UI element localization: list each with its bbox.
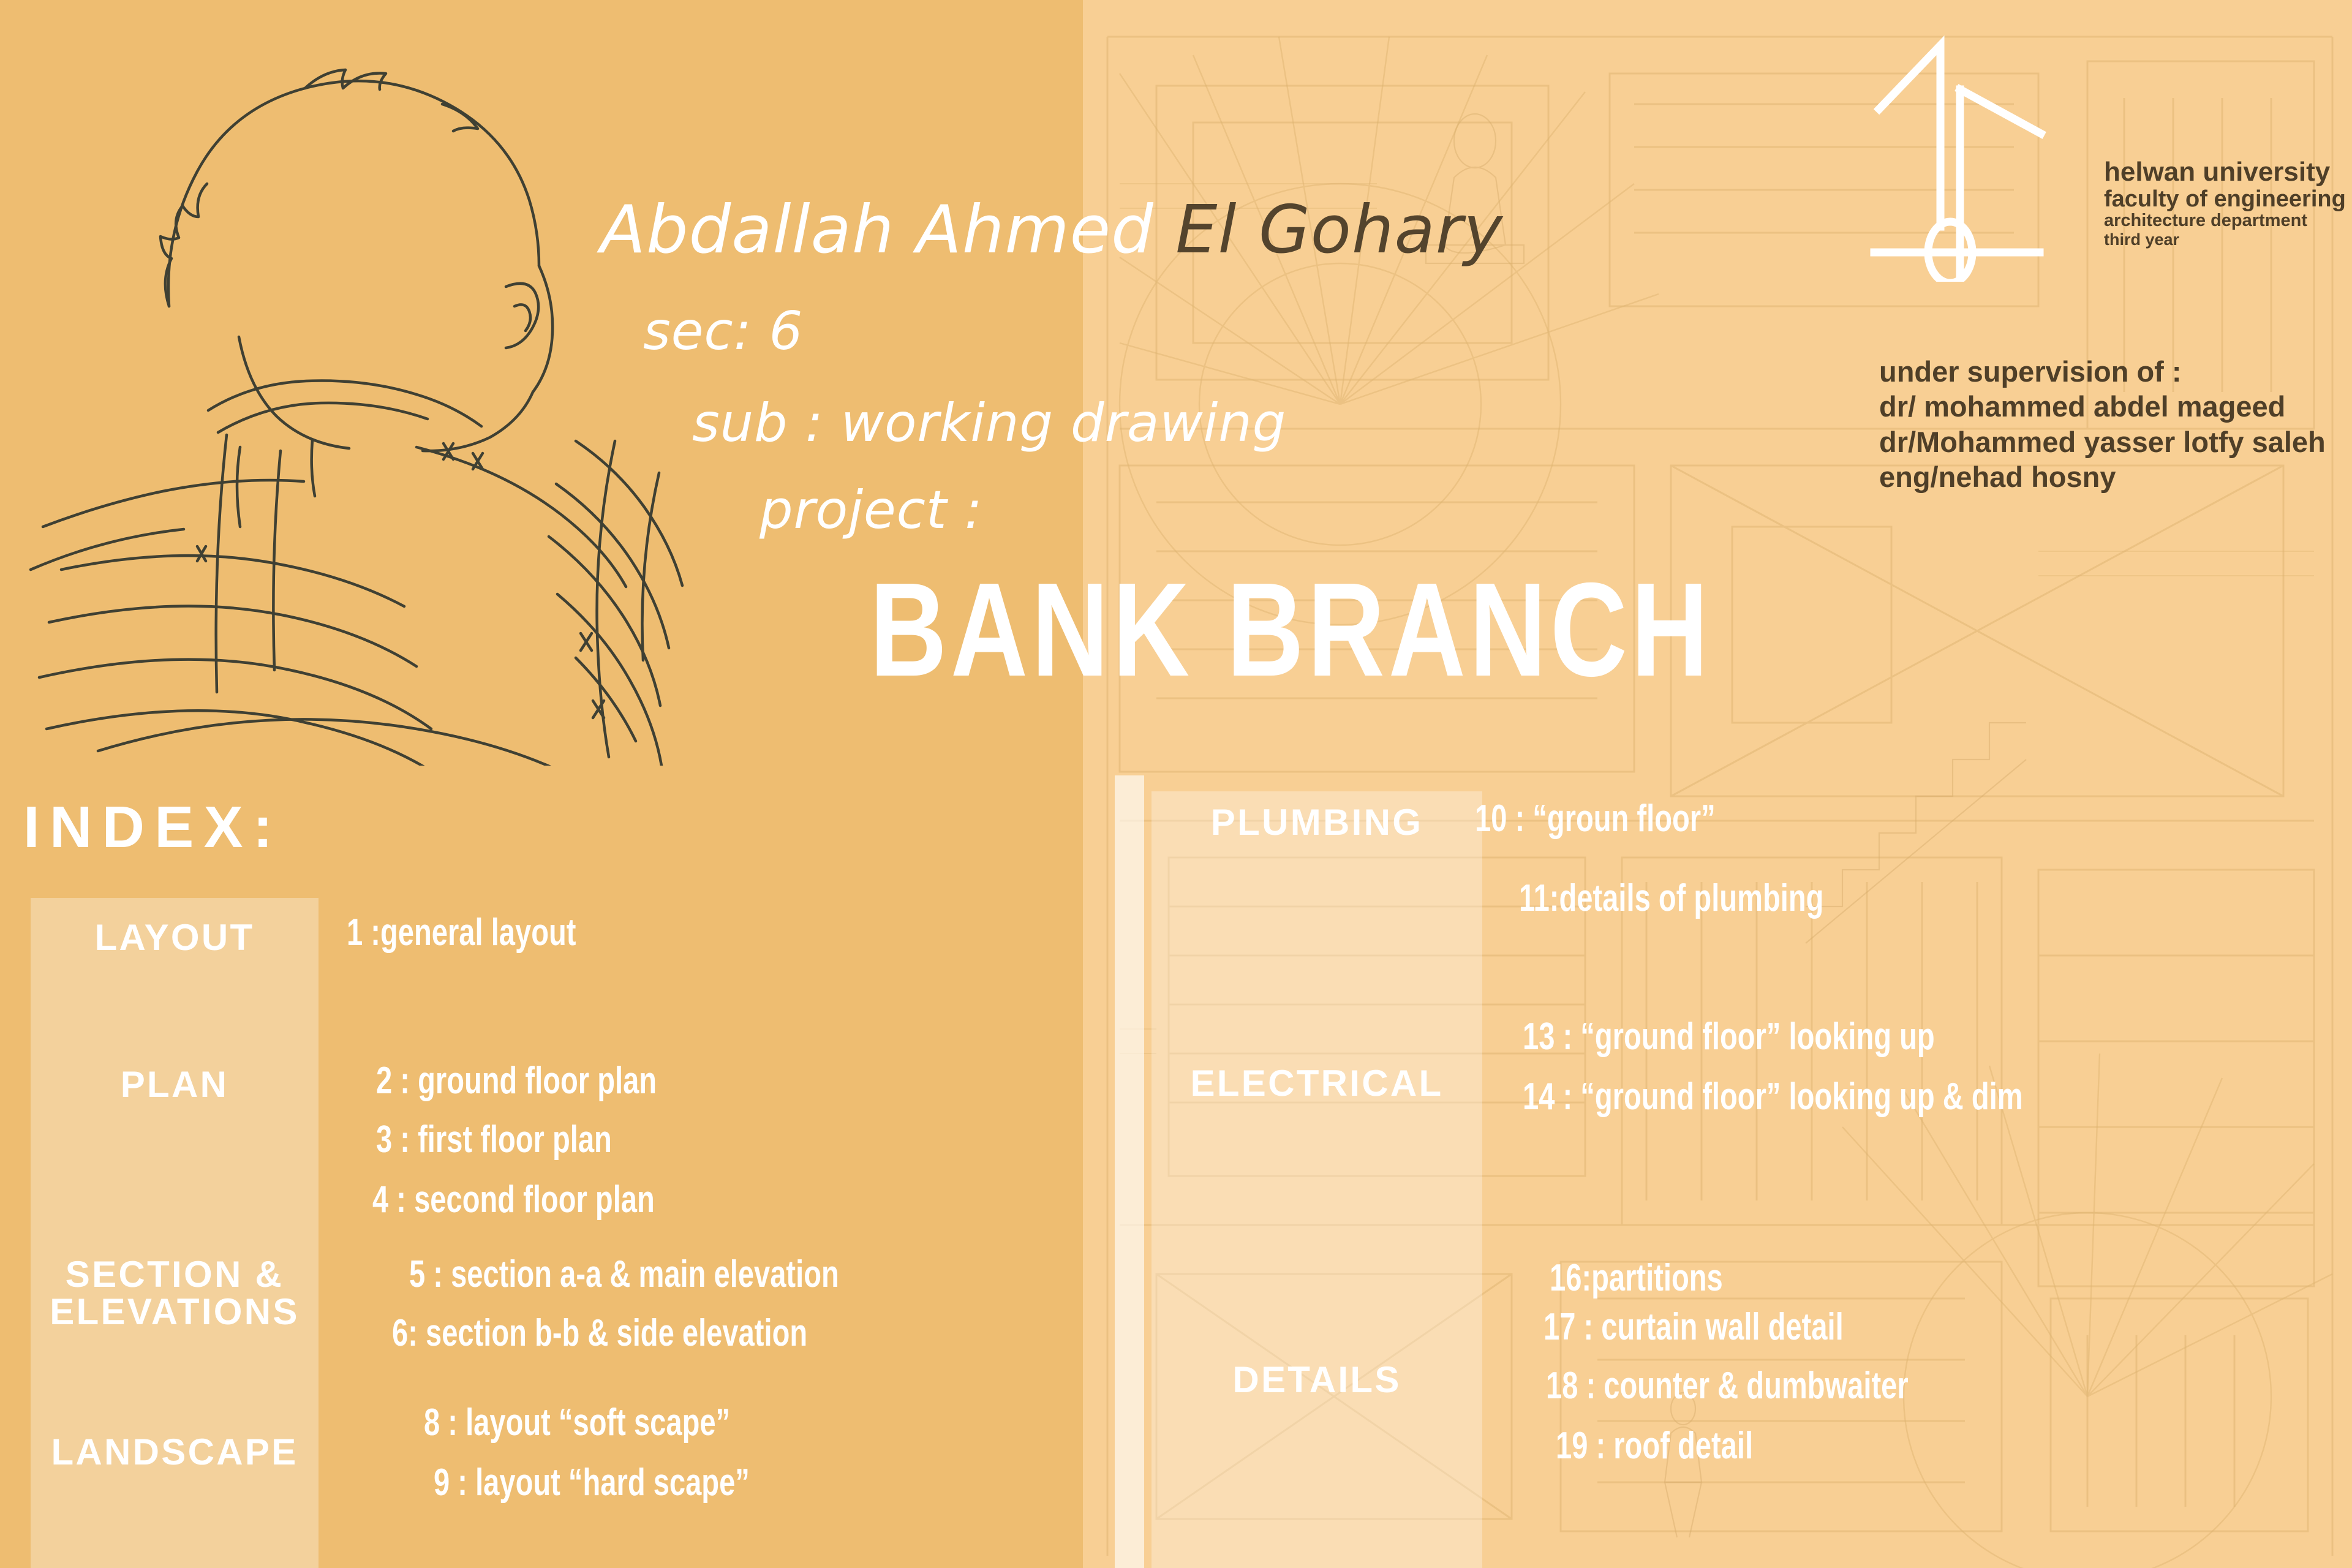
index-entry-3: 3 : first floor plan: [376, 1121, 612, 1159]
index-category-plan: PLAN: [31, 1066, 318, 1103]
faculty-name: faculty of engineering: [2104, 187, 2349, 211]
index-entry-11: 11:details of plumbing: [1519, 880, 1823, 918]
university-name: helwan university: [2104, 158, 2349, 187]
subject-line: sub : working drawing: [692, 397, 1286, 450]
index-heading: INDEX:: [23, 798, 282, 857]
index-category-section-elevations: SECTION & ELEVATIONS: [31, 1256, 318, 1330]
supervisor-2: dr/Mohammed yasser lotfy saleh: [1879, 424, 2345, 459]
student-name: Abdallah Ahmed El Gohary: [600, 197, 1503, 263]
index-entry-14: 14 : “ground floor” looking up & dim: [1523, 1078, 2023, 1116]
index-entry-16: 16:partitions: [1550, 1259, 1723, 1297]
index-category-landscape: LANDSCAPE: [24, 1433, 325, 1471]
supervision-block: under supervision of : dr/ mohammed abde…: [1879, 354, 2345, 494]
index-entry-10: 10 : “groun floor”: [1475, 800, 1716, 838]
index-entry-8: 8 : layout “soft scape”: [424, 1404, 730, 1442]
index-category-electrical: ELECTRICAL: [1151, 1065, 1482, 1102]
index-entry-6: 6: section b-b & side elevation: [392, 1314, 807, 1352]
presentation-board: Abdallah Ahmed El Gohary sec: 6 sub : wo…: [0, 0, 2352, 1568]
supervision-heading: under supervision of :: [1879, 354, 2345, 389]
department-name: architecture department: [2104, 211, 2349, 231]
index-category-layout: LAYOUT: [31, 919, 318, 956]
project-title: BANK BRANCH: [870, 563, 1712, 697]
index-entry-5: 5 : section a-a & main elevation: [409, 1256, 839, 1294]
student-last-name: El Gohary: [1175, 192, 1503, 268]
university-block: helwan university faculty of engineering…: [2104, 158, 2349, 249]
index-entry-17: 17 : curtain wall detail: [1543, 1308, 1844, 1346]
index-entry-19: 19 : roof detail: [1556, 1427, 1753, 1465]
index-entry-1: 1 :general layout: [347, 914, 576, 952]
student-first-name: Abdallah Ahmed: [600, 192, 1175, 268]
study-year: third year: [2104, 231, 2349, 249]
index-entry-13: 13 : “ground floor” looking up: [1523, 1018, 1935, 1056]
index-divider-stripe: [1115, 775, 1144, 1568]
index-entry-4: 4 : second floor plan: [372, 1181, 655, 1219]
portrait-sketch: [24, 18, 759, 766]
index-category-details: DETAILS: [1151, 1361, 1482, 1398]
section-line: sec: 6: [643, 305, 803, 358]
project-label: project :: [759, 484, 982, 537]
supervisor-3: eng/nehad hosny: [1879, 459, 2345, 494]
index-category-plumbing: PLUMBING: [1151, 804, 1482, 841]
architecture-arrow-logo-icon: [1862, 24, 2131, 282]
index-entry-2: 2 : ground floor plan: [376, 1062, 657, 1100]
index-entry-18: 18 : counter & dumbwaiter: [1546, 1367, 1909, 1405]
index-right-panel: [1151, 791, 1482, 1568]
supervisor-1: dr/ mohammed abdel mageed: [1879, 389, 2345, 424]
index-entry-9: 9 : layout “hard scape”: [434, 1464, 750, 1502]
